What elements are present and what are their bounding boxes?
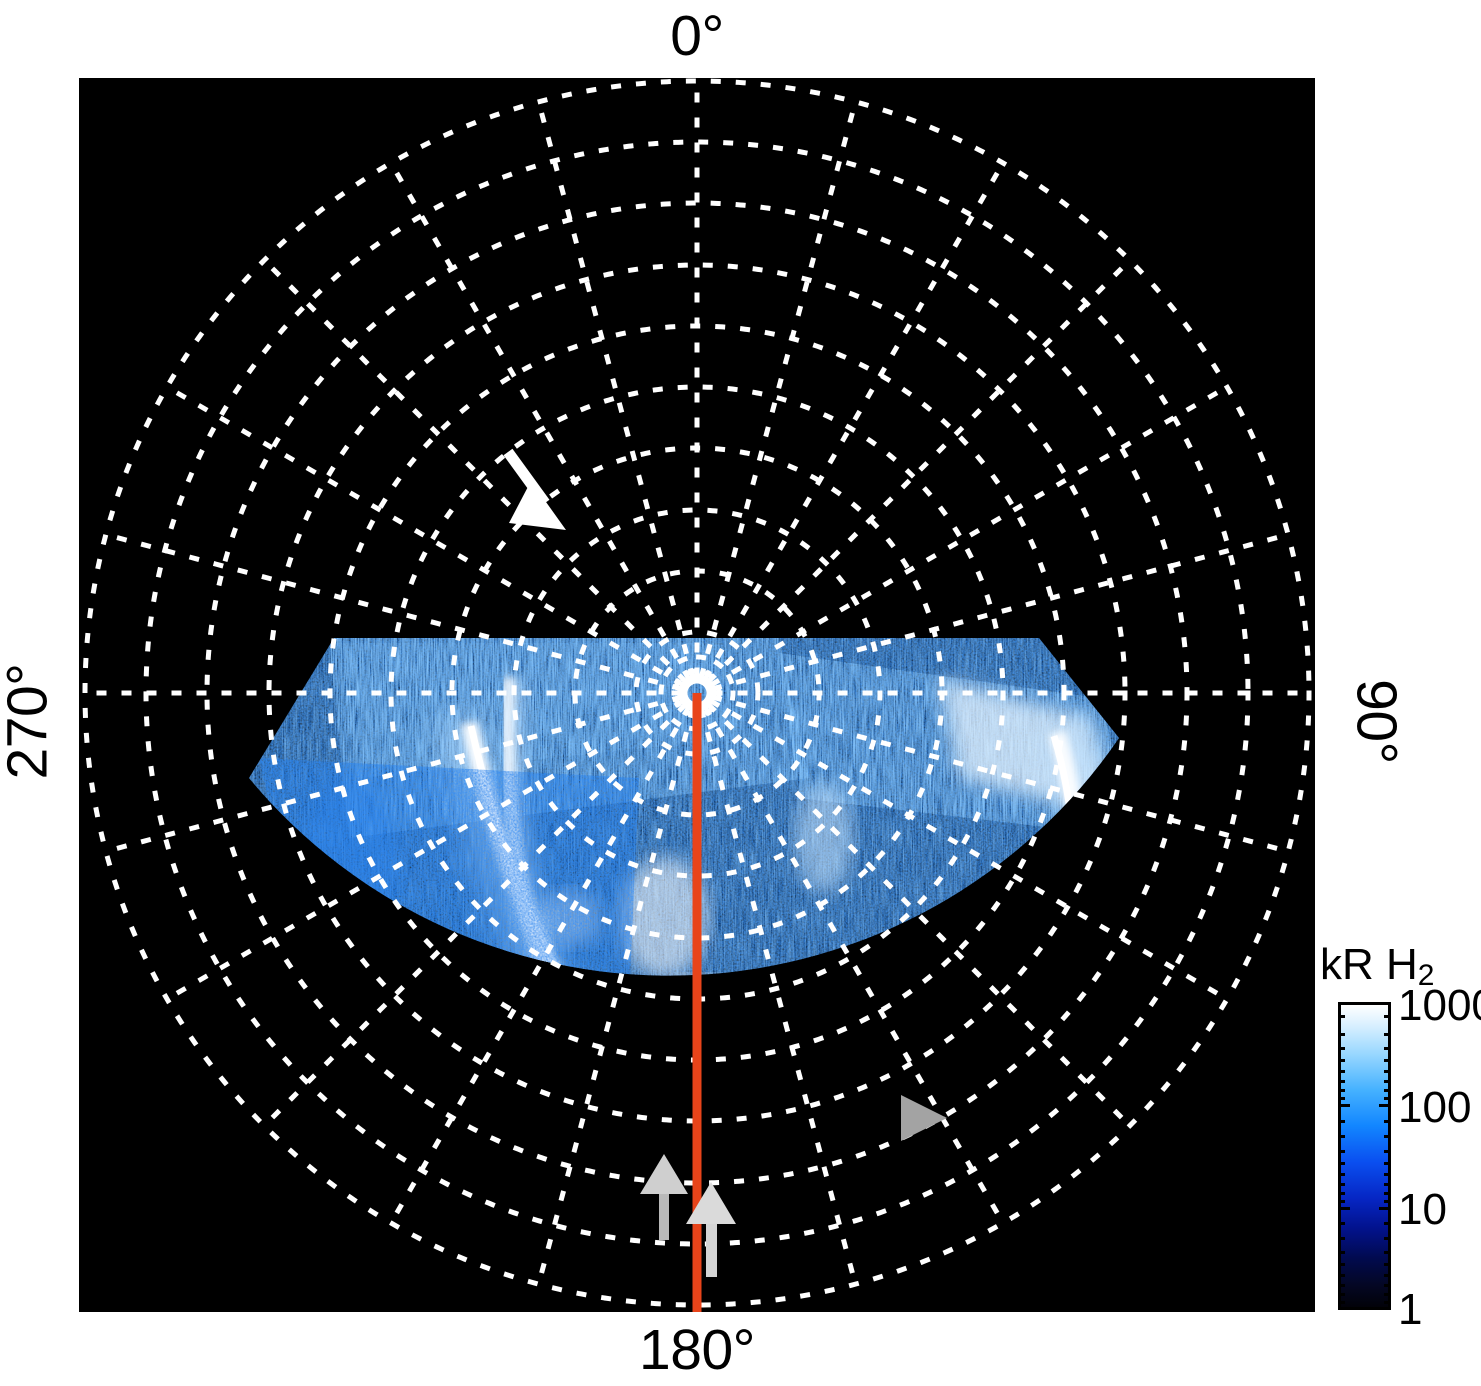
colorbar-minor-tick xyxy=(1338,1200,1345,1203)
colorbar-minor-tick xyxy=(1338,1047,1345,1050)
colorbar-label-1000: 1000 xyxy=(1398,984,1481,1028)
colorbar-minor-tick xyxy=(1338,1263,1345,1266)
colorbar-minor-tick xyxy=(1338,1173,1345,1176)
colorbar-minor-tick xyxy=(1338,1192,1345,1195)
colorbar-minor-tick xyxy=(1384,1033,1391,1036)
colorbar-minor-tick xyxy=(1384,1200,1391,1203)
colorbar-tick-1-left xyxy=(1338,1307,1350,1310)
colorbar-minor-tick xyxy=(1384,1293,1391,1296)
colorbar-minor-tick xyxy=(1384,1080,1391,1083)
colorbar-tick-1000-left xyxy=(1338,1002,1350,1005)
colorbar-minor-tick xyxy=(1338,1284,1345,1287)
colorbar-minor-tick xyxy=(1338,1070,1345,1073)
colorbar-tick-10-left xyxy=(1338,1207,1350,1210)
colorbar-minor-tick xyxy=(1384,1047,1391,1050)
colorbar-minor-tick xyxy=(1384,1183,1391,1186)
colorbar-minor-tick xyxy=(1338,1293,1345,1296)
colorbar-minor-tick xyxy=(1338,1274,1345,1277)
colorbar-minor-tick xyxy=(1384,1097,1391,1100)
colorbar-minor-tick xyxy=(1338,1150,1345,1153)
colorbar-minor-tick xyxy=(1338,1301,1345,1304)
polar-plot-panel xyxy=(79,78,1315,1312)
colorbar-tick-100-right xyxy=(1379,1104,1391,1107)
colorbar-minor-tick xyxy=(1384,1301,1391,1304)
colorbar-minor-tick xyxy=(1338,1237,1345,1240)
polar-plot-svg xyxy=(79,78,1315,1312)
colorbar-minor-tick xyxy=(1338,1080,1345,1083)
colorbar-tick-1-right xyxy=(1379,1307,1391,1310)
colorbar-minor-tick xyxy=(1338,1222,1345,1225)
colorbar-label-1: 1 xyxy=(1398,1288,1422,1332)
colorbar-minor-tick xyxy=(1338,1120,1345,1123)
colorbar-tick-100-left xyxy=(1338,1104,1350,1107)
figure-root: 0° 180° 270° 90° xyxy=(0,0,1481,1386)
colorbar-minor-tick xyxy=(1384,1059,1391,1062)
colorbar-minor-tick xyxy=(1384,1222,1391,1225)
axis-label-180: 180° xyxy=(0,1322,1394,1379)
colorbar-minor-tick xyxy=(1384,1274,1391,1277)
colorbar-minor-tick xyxy=(1384,1135,1391,1138)
colorbar-minor-tick xyxy=(1384,1173,1391,1176)
axis-label-270: 270° xyxy=(0,632,57,812)
colorbar-minor-tick xyxy=(1338,1162,1345,1165)
colorbar-minor-tick xyxy=(1384,1070,1391,1073)
colorbar-minor-tick xyxy=(1384,1284,1391,1287)
colorbar-minor-tick xyxy=(1384,1192,1391,1195)
colorbar-minor-tick xyxy=(1384,1120,1391,1123)
colorbar-minor-tick xyxy=(1338,1059,1345,1062)
colorbar-label-100: 100 xyxy=(1398,1086,1471,1130)
colorbar-minor-tick xyxy=(1384,1015,1391,1018)
colorbar-minor-tick xyxy=(1338,1033,1345,1036)
colorbar-minor-tick xyxy=(1338,1097,1345,1100)
colorbar-minor-tick xyxy=(1338,1015,1345,1018)
colorbar-minor-tick xyxy=(1384,1251,1391,1254)
axis-label-90: 90° xyxy=(1348,632,1405,812)
colorbar-minor-tick xyxy=(1384,1263,1391,1266)
colorbar-minor-tick xyxy=(1384,1089,1391,1092)
axis-label-0: 0° xyxy=(0,8,1394,65)
colorbar-tick-10-right xyxy=(1379,1207,1391,1210)
colorbar-minor-tick xyxy=(1338,1251,1345,1254)
colorbar-minor-tick xyxy=(1338,1089,1345,1092)
colorbar-minor-tick xyxy=(1338,1183,1345,1186)
colorbar-minor-tick xyxy=(1384,1237,1391,1240)
colorbar-minor-tick xyxy=(1384,1150,1391,1153)
colorbar-label-10: 10 xyxy=(1398,1188,1447,1232)
colorbar-tick-1000-right xyxy=(1379,1002,1391,1005)
colorbar-minor-tick xyxy=(1384,1162,1391,1165)
colorbar-ticks xyxy=(1338,1002,1391,1310)
colorbar-minor-tick xyxy=(1338,1135,1345,1138)
